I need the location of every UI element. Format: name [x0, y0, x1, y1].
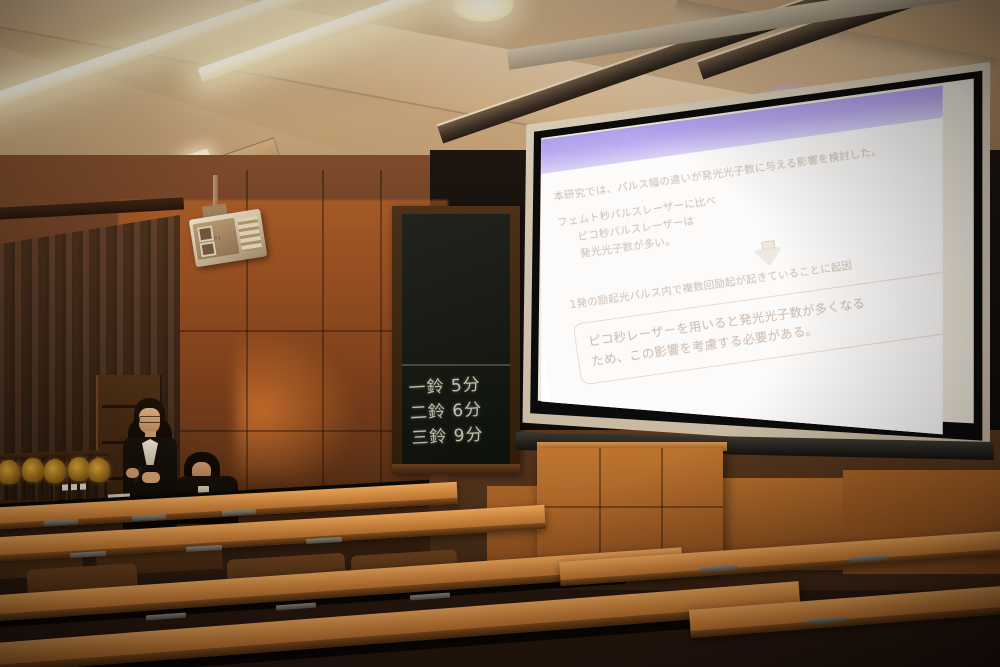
railing-ornament: [22, 458, 44, 482]
lecture-hall-photo: PJ 一鈴 5分 二鈴 6分 三鈴 9分 まとめ 本研究では、パルス幅の違いが発…: [0, 0, 1000, 667]
down-arrow-icon: [754, 240, 783, 267]
railing-ornament: [0, 460, 20, 484]
wall-panel-seam: [160, 430, 392, 432]
projector-lens-icon: [197, 225, 214, 242]
railing-ornament: [88, 458, 110, 482]
wall-panel-seam: [380, 170, 382, 500]
projector-label: PJ: [214, 235, 222, 242]
wall-light-hotspot: [236, 330, 356, 480]
projector-vent: [237, 215, 262, 252]
presenter-hand: [142, 472, 160, 483]
railing-ornament: [44, 459, 66, 483]
glasses-icon: [139, 416, 162, 423]
wall-panel-seam: [322, 170, 324, 500]
projector-lens-icon: [200, 241, 217, 257]
projection-screen: まとめ 本研究では、パルス幅の違いが発光光子数に与える影響を検討した。 フェムト…: [512, 62, 990, 454]
blackboard-divider: [402, 364, 510, 366]
railing-ornament: [68, 457, 90, 481]
slide-body: 本研究では、パルス幅の違いが発光光子数に与える影響を検討した。 フェムト秒パルス…: [553, 133, 943, 454]
blackboard: 一鈴 5分 二鈴 6分 三鈴 9分: [392, 206, 520, 474]
presenter-hand: [126, 468, 139, 478]
blackboard-chalk-text: 一鈴 5分 二鈴 6分 三鈴 9分: [408, 371, 512, 452]
blackboard-chalk-ledge: [392, 464, 520, 474]
wall-panel-seam: [160, 330, 392, 332]
